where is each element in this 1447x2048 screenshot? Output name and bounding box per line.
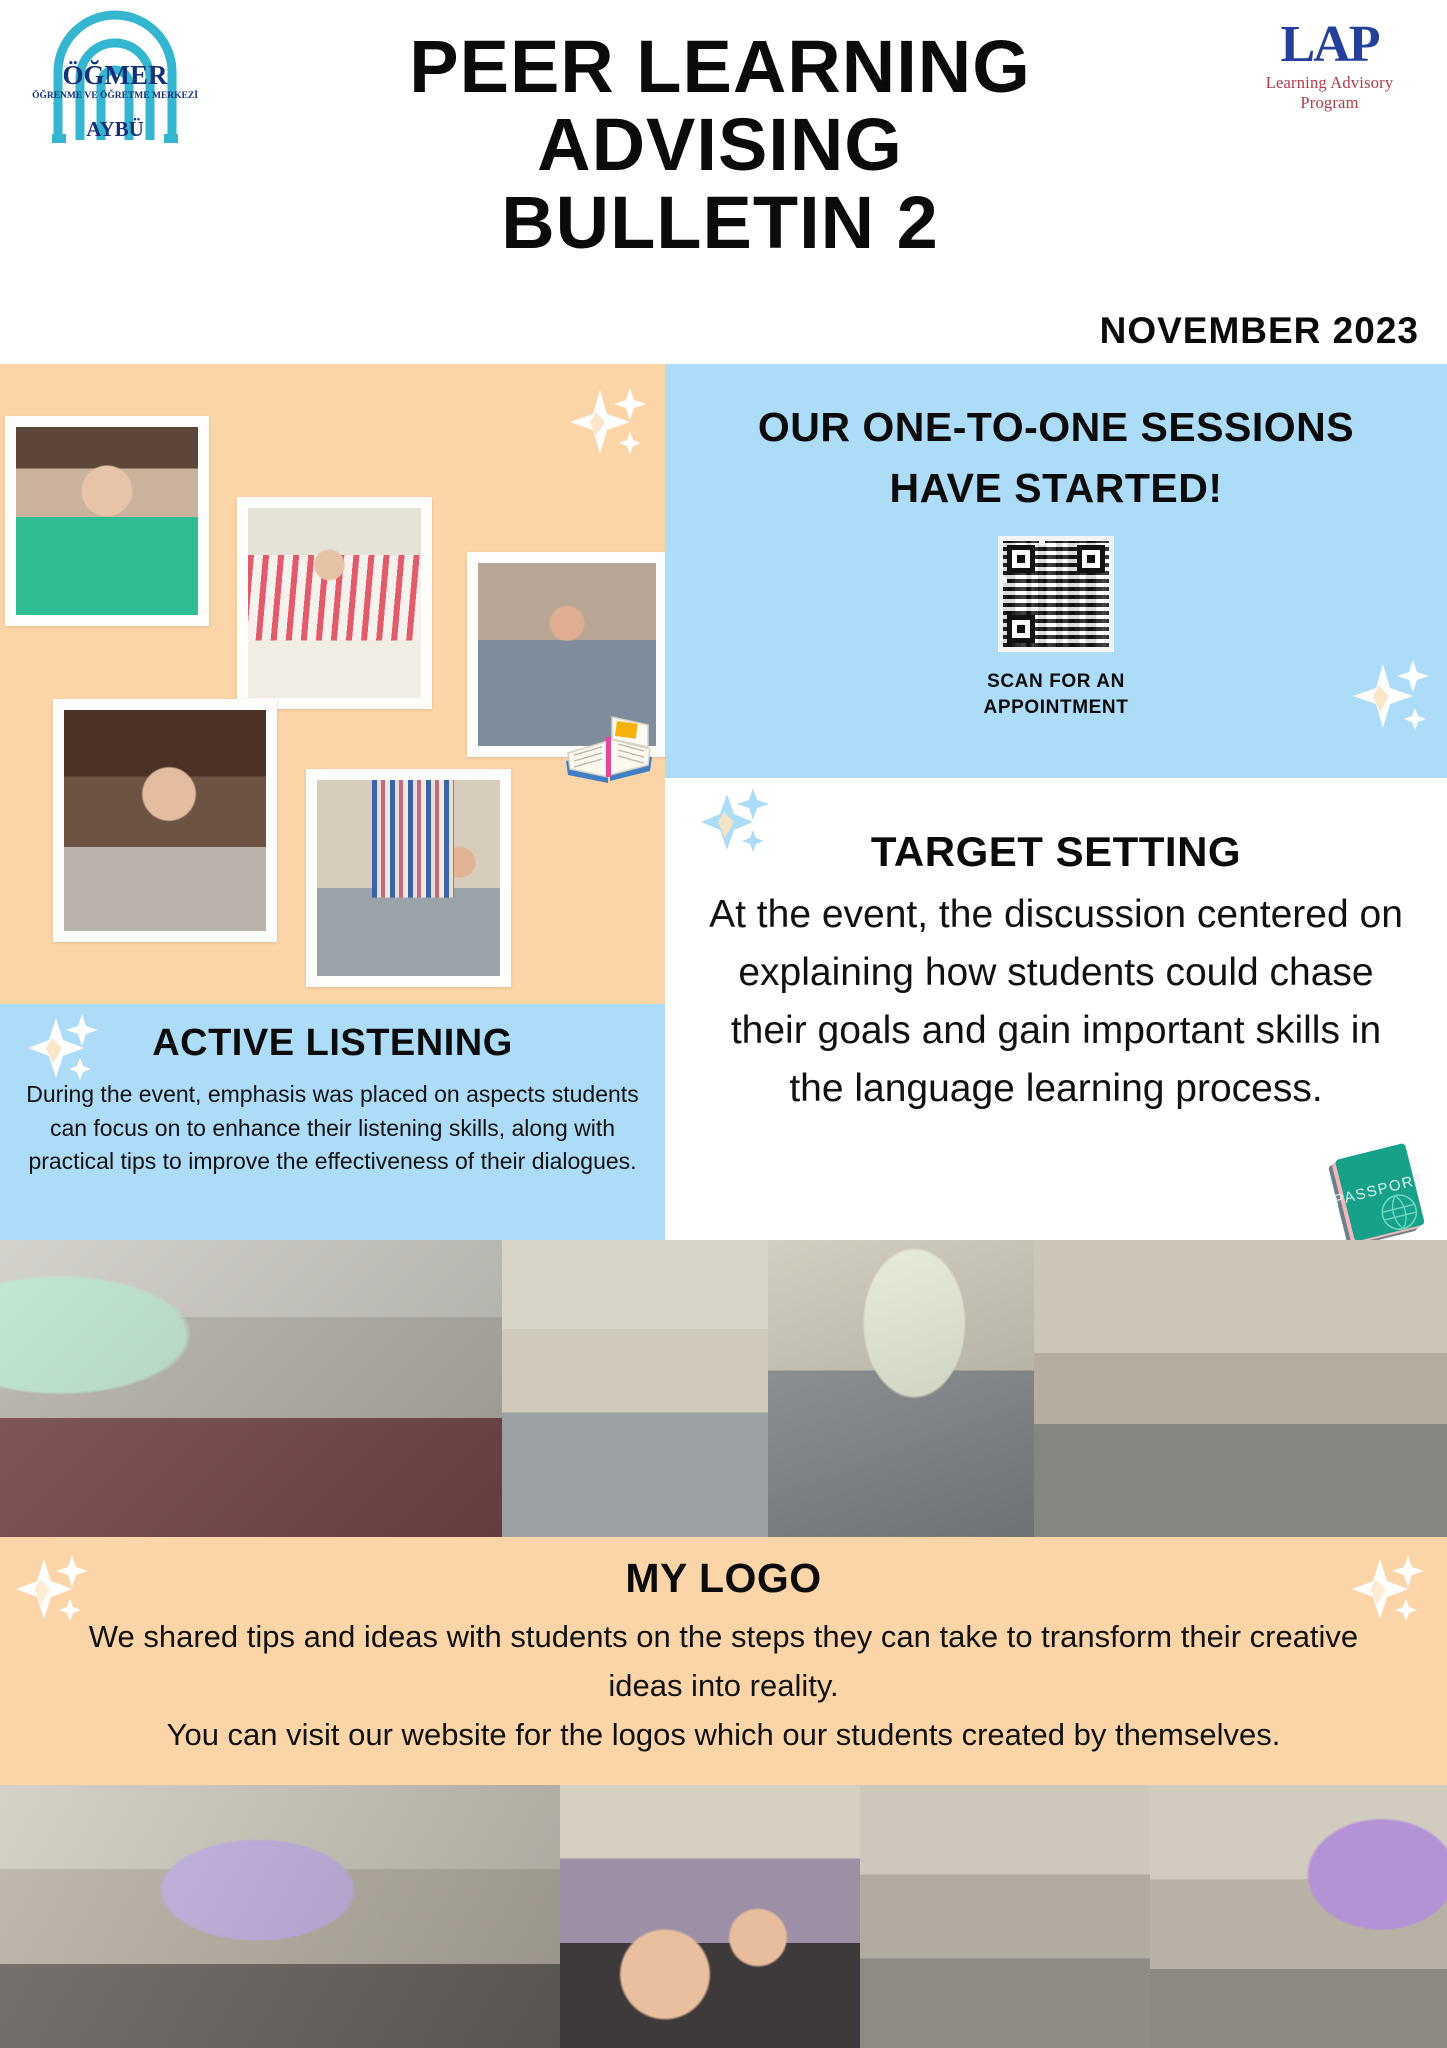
lap-logo-mark: LAP — [1247, 18, 1412, 72]
collage-photo-3 — [467, 552, 667, 757]
title-line-3: BULLETIN 2 — [220, 184, 1220, 262]
title-line-2: ADVISING — [220, 106, 1220, 184]
ogmer-logo-institution: AYBÜ — [86, 117, 144, 141]
strip-photo-group-selfie — [560, 1785, 860, 2048]
poster-header: ÖĞMER ÖĞRENME VE ÖĞRETME MERKEZİ AYBÜ LA… — [0, 0, 1447, 364]
title-line-1: PEER LEARNING — [220, 28, 1220, 106]
strip-photo-presenter-slide — [768, 1240, 1034, 1537]
sessions-heading-line-2: HAVE STARTED! — [665, 458, 1447, 519]
scan-instruction-line-1: SCAN FOR AN — [665, 669, 1447, 695]
one-to-one-sessions-panel: OUR ONE-TO-ONE SESSIONS HAVE STARTED! SC… — [665, 364, 1447, 778]
strip-photo-why-logo — [0, 1785, 560, 2048]
photo-strip-bottom — [0, 1785, 1447, 2048]
passport-label: PASSPORT — [1332, 1170, 1426, 1209]
collage-photo-2 — [237, 497, 432, 709]
scan-instruction-line-2: APPOINTMENT — [665, 695, 1447, 721]
active-listening-body: During the event, emphasis was placed on… — [24, 1078, 641, 1179]
bulletin-poster: ÖĞMER ÖĞRENME VE ÖĞRETME MERKEZİ AYBÜ LA… — [0, 0, 1447, 2048]
target-setting-body: At the event, the discussion centered on… — [699, 886, 1413, 1118]
active-listening-heading: ACTIVE LISTENING — [0, 1022, 665, 1065]
my-logo-body-line-1: We shared tips and ideas with students o… — [70, 1612, 1377, 1710]
strip-photo-classroom-group — [860, 1785, 1150, 2048]
ogmer-logo-title: ÖĞMER — [63, 60, 168, 90]
strip-photo-action-in-skills — [1034, 1240, 1447, 1537]
passport-icon: PASSPORT — [1320, 1143, 1435, 1243]
scan-instruction: SCAN FOR AN APPOINTMENT — [665, 669, 1447, 721]
ogmer-logo: ÖĞMER ÖĞRENME VE ÖĞRETME MERKEZİ AYBÜ — [30, 8, 200, 148]
target-setting-heading: TARGET SETTING — [665, 828, 1447, 876]
my-logo-body-line-2: You can visit our website for the logos … — [70, 1710, 1377, 1759]
sessions-heading-line-1: OUR ONE-TO-ONE SESSIONS — [665, 397, 1447, 458]
target-setting-panel: TARGET SETTING At the event, the discuss… — [665, 778, 1447, 1240]
strip-photo-lecture-listening — [0, 1240, 502, 1537]
sessions-heading: OUR ONE-TO-ONE SESSIONS HAVE STARTED! — [665, 397, 1447, 519]
my-logo-heading: MY LOGO — [0, 1555, 1447, 1602]
lap-logo-subtitle: Learning Advisory Program — [1247, 73, 1412, 113]
photo-strip-middle — [0, 1240, 1447, 1537]
active-listening-panel: ACTIVE LISTENING During the event, empha… — [0, 1004, 665, 1240]
poster-title: PEER LEARNING ADVISING BULLETIN 2 — [220, 28, 1220, 262]
qr-code[interactable] — [998, 536, 1114, 652]
issue-date: NOVEMBER 2023 — [1100, 310, 1419, 352]
lap-logo: LAP Learning Advisory Program — [1247, 18, 1412, 118]
strip-photo-classroom-audience — [502, 1240, 768, 1537]
collage-photo-1 — [5, 416, 209, 626]
my-logo-panel: MY LOGO We shared tips and ideas with st… — [0, 1537, 1447, 1785]
sparkle-icon — [560, 382, 650, 460]
collage-photo-5 — [306, 769, 511, 987]
photo-collage-panel — [0, 364, 665, 1004]
collage-photo-4 — [53, 699, 277, 942]
strip-photo-vocabulary-presentation — [1150, 1785, 1447, 2048]
my-logo-body: We shared tips and ideas with students o… — [70, 1612, 1377, 1759]
